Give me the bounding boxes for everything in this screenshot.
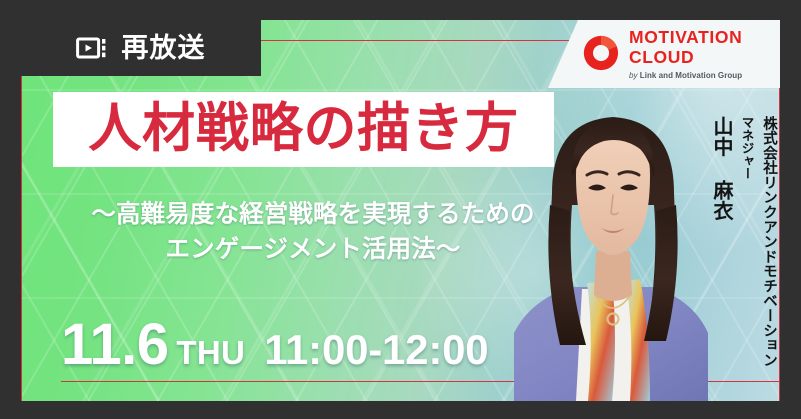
schedule-date: 11.6 [61, 316, 168, 374]
schedule-time: 11:00-12:00 [264, 329, 488, 371]
guide-rule-right [779, 42, 780, 401]
schedule-weekday: THU [176, 336, 245, 369]
replay-badge: 再放送 [21, 20, 261, 76]
brand-logo-text: MOTIVATION CLOUD by Link and Motivation … [629, 29, 742, 80]
speaker-name: 山中 麻衣 [711, 116, 731, 221]
brand-line-2: CLOUD [629, 49, 742, 67]
brand-tagline-by: by [629, 71, 638, 80]
subtitle-line-2: エンゲージメント活用法〜 [53, 233, 573, 268]
page-title: 人材戦略の描き方 [88, 102, 518, 155]
schedule: 11.6 THU 11:00-12:00 [61, 316, 488, 374]
motivation-cloud-circle-icon [582, 34, 620, 72]
subtitle: 〜高難易度な経営戦略を実現するための エンゲージメント活用法〜 [53, 198, 573, 268]
subtitle-line-1: 〜高難易度な経営戦略を実現するための [91, 201, 534, 228]
webinar-banner: 再放送 MOTIVATION CLOUD by Link and Motivat… [0, 0, 801, 419]
guide-rule-left [21, 20, 22, 401]
brand-logo: MOTIVATION CLOUD by Link and Motivation … [548, 20, 780, 88]
speaker-role: マネジャー [740, 116, 753, 180]
brand-line-1: MOTIVATION [629, 29, 742, 47]
brand-tagline-group: Link and Motivation Group [640, 71, 742, 80]
video-replay-icon [76, 36, 108, 60]
replay-badge-label: 再放送 [121, 35, 205, 62]
title-plate: 人材戦略の描き方 [53, 92, 554, 167]
brand-tagline: by Link and Motivation Group [629, 72, 742, 80]
artwork-stage: 再放送 MOTIVATION CLOUD by Link and Motivat… [21, 20, 780, 401]
speaker-company: 株式会社リンクアンドモチベーション [762, 116, 777, 367]
speaker-credits: 山中 麻衣 マネジャー 株式会社リンクアンドモチベーション [700, 116, 776, 367]
